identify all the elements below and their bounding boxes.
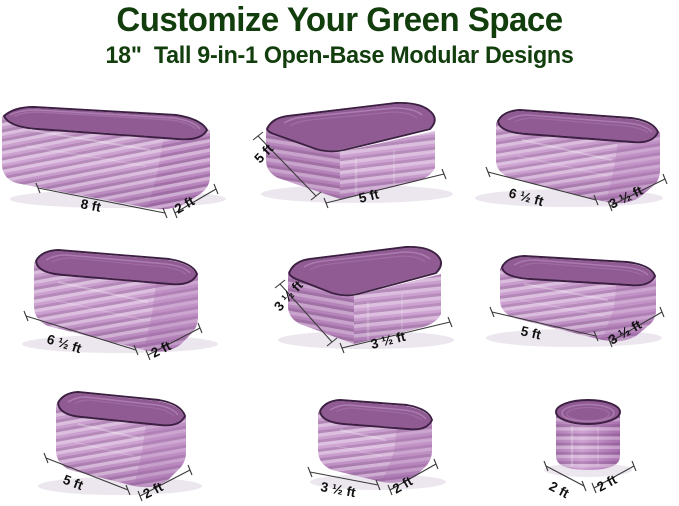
product-bed-3h-x-2-oval[interactable]: 3 ½ ft 2 ft (290, 372, 476, 506)
dimension-length-label: 6 ½ ft (45, 332, 84, 357)
bed-6h-3h-rect-illustration: 6 ½ ft 3 ½ ft (464, 86, 679, 216)
bed-8x2-oval-illustration: 8 ft 2 ft (0, 86, 240, 216)
bed-5x5-square-illustration: 5 ft 5 ft (244, 86, 470, 216)
bed-2x2-round-illustration: 2 ft 2 ft (510, 372, 679, 506)
bed-3h-2-oval-illustration: 3 ½ ft 2 ft (290, 372, 476, 506)
bed-5x2-oval-illustration: 5 ft 2 ft (20, 372, 230, 506)
product-bed-5-x-3h-rect[interactable]: 5 ft 3 ½ ft (476, 228, 679, 364)
bed-5-3h-rect-illustration: 5 ft 3 ½ ft (476, 228, 679, 364)
bed-6h-2-oval-illustration: 6 ½ ft 2 ft (8, 228, 238, 364)
product-bed-2x2-round[interactable]: 2 ft 2 ft (510, 372, 679, 506)
product-bed-6h-x-3h-rect[interactable]: 6 ½ ft 3 ½ ft (464, 86, 679, 216)
page-subtitle: 18" Tall 9-in-1 Open-Base Modular Design… (10, 39, 669, 68)
product-bed-6h-x-2-oval[interactable]: 6 ½ ft 2 ft (8, 228, 238, 364)
product-bed-5x5-square[interactable]: 5 ft 5 ft (244, 86, 470, 216)
dimension-left-label: 2 ft (547, 478, 572, 501)
product-bed-3h-x-3h-square[interactable]: 3 ½ ft 3 ½ ft (262, 228, 472, 364)
header: Customize Your Green Space 18" Tall 9-in… (0, 0, 679, 68)
page-title: Customize Your Green Space (10, 0, 669, 39)
product-bed-5x2-oval[interactable]: 5 ft 2 ft (20, 372, 230, 506)
product-bed-8x2-oval[interactable]: 8 ft 2 ft (0, 86, 240, 216)
bed-3h-3h-square-illustration: 3 ½ ft 3 ½ ft (262, 228, 472, 364)
dimension-length-label: 8 ft (79, 196, 102, 215)
